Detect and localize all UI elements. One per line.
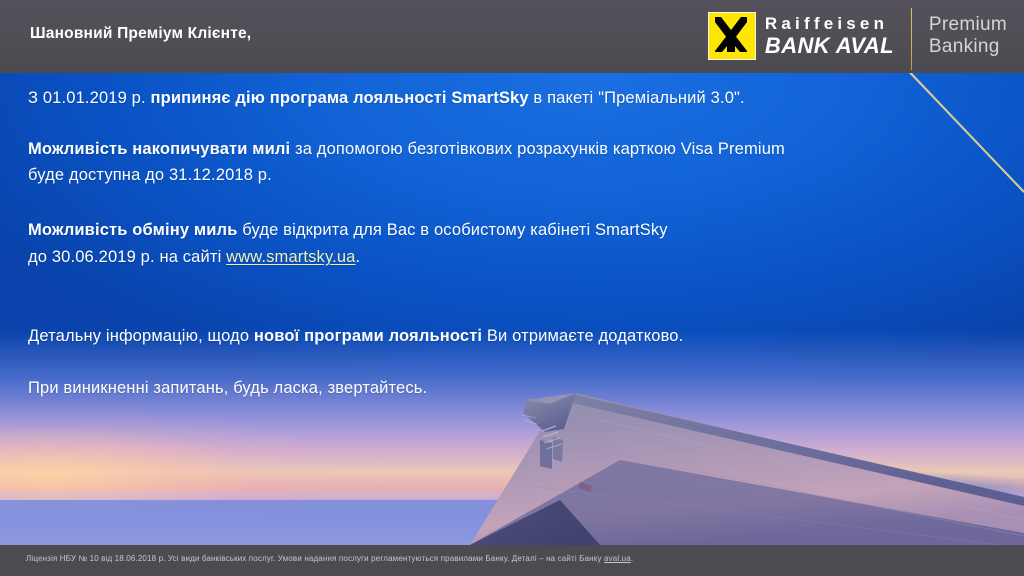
p3-text-3: . (356, 248, 361, 266)
logo-bankaval-text: BANK AVAL (765, 35, 894, 57)
p3-bold-1: Можливість обміну миль (28, 221, 238, 239)
sky-lower-band (0, 500, 1024, 545)
p5-text-1: При виникненні запитань, будь ласка, зве… (28, 379, 427, 397)
p4-bold-1: нової програми лояльності (254, 327, 482, 345)
footer-disclaimer-text: Ліцензія НБУ № 10 від 18.06.2018 р. Усі … (26, 554, 604, 563)
p2-text-1: за допомогою безготівкових розрахунків к… (290, 140, 785, 158)
aval-link[interactable]: aval.ua (604, 554, 631, 563)
body-copy: З 01.01.2019 р. припиняє дію програма ло… (28, 85, 968, 402)
p2-bold-1: Можливість накопичувати милі (28, 140, 290, 158)
p4-text-2: Ви отримаєте додатково. (482, 327, 683, 345)
header-bar: Шановний Преміум Клієнте, Raiffeisen BAN… (0, 0, 1024, 73)
p1-text-2: в пакеті "Преміальний 3.0". (529, 89, 745, 107)
p1-text-1: З 01.01.2019 р. (28, 89, 150, 107)
premium-banking-line1: Premium (929, 14, 1007, 36)
paragraph-2: Можливість накопичувати милі за допомого… (28, 136, 968, 189)
paragraph-1: З 01.01.2019 р. припиняє дію програма ло… (28, 85, 968, 112)
p3-text-1: буде відкрита для Вас в особистому кабін… (238, 221, 668, 239)
slide-root: Шановний Преміум Клієнте, Raiffeisen BAN… (0, 0, 1024, 576)
logo-divider (911, 8, 913, 70)
logo-raiffeisen-text: Raiffeisen (765, 15, 894, 32)
smartsky-link[interactable]: www.smartsky.ua (226, 248, 355, 266)
premium-banking-line2: Banking (929, 36, 1007, 58)
footer-bar: Ліцензія НБУ № 10 від 18.06.2018 р. Усі … (0, 545, 1024, 576)
paragraph-3: Можливість обміну миль буде відкрита для… (28, 217, 968, 270)
p1-bold-1: припиняє дію програма лояльності SmartSk… (150, 89, 528, 107)
paragraph-5: При виникненні запитань, будь ласка, зве… (28, 375, 968, 402)
bank-logo: Raiffeisen BANK AVAL (708, 12, 894, 60)
logo-wordmark: Raiffeisen BANK AVAL (765, 15, 894, 57)
salutation-text: Шановний Преміум Клієнте, (30, 25, 251, 43)
paragraph-4: Детальну інформацію, щодо нової програми… (28, 323, 968, 350)
premium-banking-label: Premium Banking (929, 14, 1007, 59)
p2-text-2: буде доступна до 31.12.2018 р. (28, 166, 272, 184)
footer-disclaimer: Ліцензія НБУ № 10 від 18.06.2018 р. Усі … (26, 554, 633, 563)
p4-text-1: Детальну інформацію, щодо (28, 327, 254, 345)
footer-suffix: . (631, 554, 633, 563)
p3-text-2: до 30.06.2019 р. на сайті (28, 248, 226, 266)
raiffeisen-gable-cross-icon (708, 12, 756, 60)
